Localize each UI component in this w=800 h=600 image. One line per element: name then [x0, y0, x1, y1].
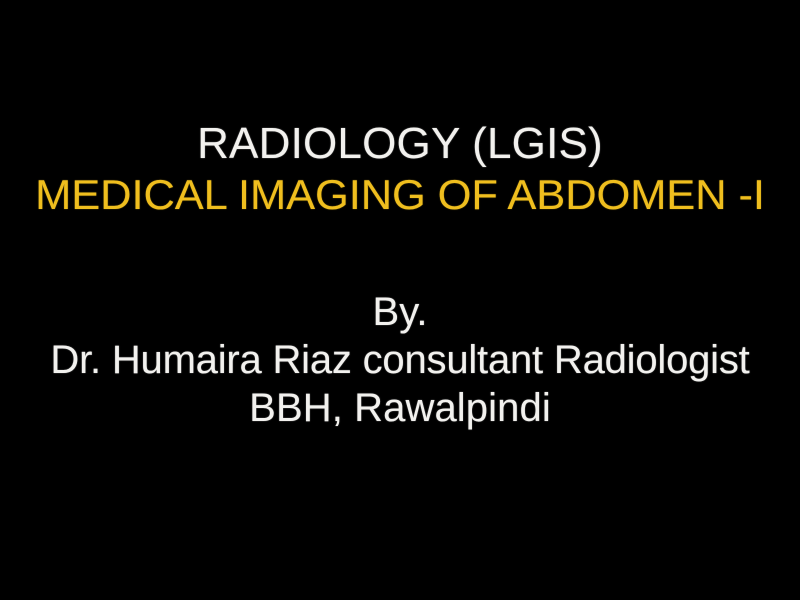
- slide-byline-block: By. Dr. Humaira Riaz consultant Radiolog…: [0, 288, 800, 432]
- byline-author: Dr. Humaira Riaz consultant Radiologist: [0, 336, 800, 384]
- slide-title-secondary: MEDICAL IMAGING OF ABDOMEN -I: [0, 170, 800, 220]
- presentation-slide: RADIOLOGY (LGIS) MEDICAL IMAGING OF ABDO…: [0, 0, 800, 600]
- byline-affiliation: BBH, Rawalpindi: [0, 384, 800, 432]
- slide-title-block: RADIOLOGY (LGIS) MEDICAL IMAGING OF ABDO…: [0, 118, 800, 220]
- slide-title-primary: RADIOLOGY (LGIS): [0, 118, 800, 170]
- byline-label: By.: [0, 288, 800, 336]
